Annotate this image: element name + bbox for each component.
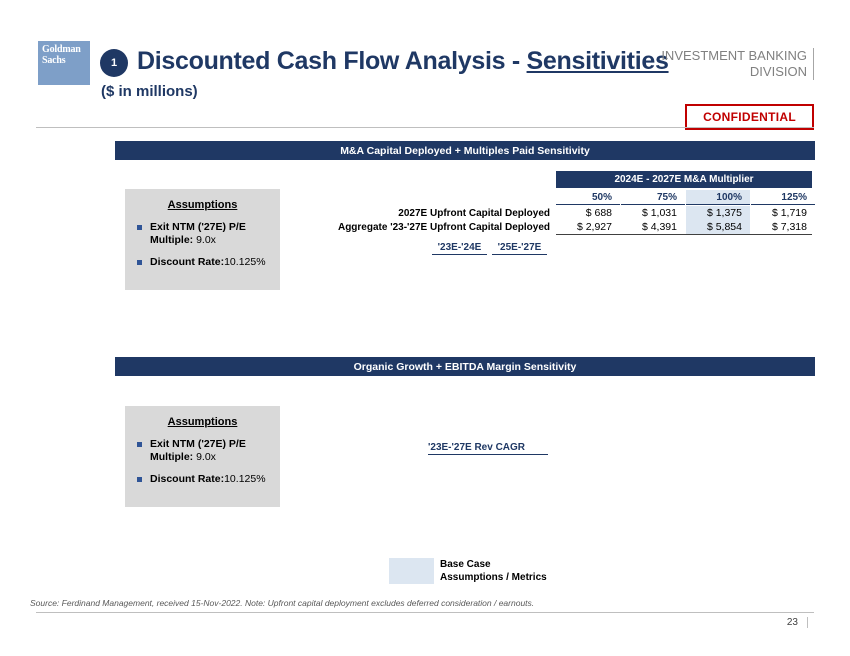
ma-summary-row-label: 2027E Upfront Capital Deployed [300, 206, 550, 220]
assumption-s2-item-value: 10.125% [224, 473, 265, 485]
ma-summary-cell: $ 688 [556, 206, 620, 220]
assumption-s2-item-label: Discount Rate: [150, 473, 224, 485]
page-title: Discounted Cash Flow Analysis - Sensitiv… [137, 47, 669, 76]
ma-matrix-header: 2024E - 2027E M&A Multiplier [556, 171, 812, 188]
ma-column-header: 100% [686, 190, 750, 205]
og-axis-header: '23E-'27E Rev CAGR [428, 440, 548, 455]
ma-summary-cell: $ 2,927 [556, 220, 620, 234]
assumptions-box-section1: AssumptionsExit NTM ('27E) P/E Multiple:… [125, 189, 280, 290]
section-header-ma-capital: M&A Capital Deployed + Multiples Paid Se… [115, 141, 815, 160]
page-number: 23 [787, 617, 808, 628]
division-line-1: INVESTMENT BANKING [661, 48, 807, 64]
ma-summary-cell: $ 5,854 [686, 220, 750, 234]
section-header-organic-growth: Organic Growth + EBITDA Margin Sensitivi… [115, 357, 815, 376]
header-divider [36, 127, 814, 128]
legend-swatch-base-case [389, 558, 434, 584]
division-label: INVESTMENT BANKING DIVISION [661, 48, 814, 80]
footer-divider [36, 612, 814, 613]
ma-column-header: 50% [556, 190, 620, 205]
assumption-s1-heading: Assumptions [137, 199, 268, 211]
assumption-s2-heading: Assumptions [137, 416, 268, 428]
assumption-s1-item-label: Discount Rate: [150, 256, 224, 268]
page-title-emphasis: Sensitivities [527, 47, 669, 75]
assumption-s1-item: Exit NTM ('27E) P/E Multiple: 9.0x [137, 221, 268, 247]
ma-axis-header: '25E-'27E [492, 240, 547, 255]
assumption-s1-item-value: 10.125% [224, 256, 265, 268]
legend-line-2: Assumptions / Metrics [440, 571, 547, 584]
page-title-main: Discounted Cash Flow Analysis - [137, 47, 527, 75]
legend-line-1: Base Case [440, 558, 547, 571]
ma-summary-cell: $ 7,318 [751, 220, 815, 234]
ma-column-header: 125% [751, 190, 815, 205]
ma-summary-row-label: Aggregate '23-'27E Upfront Capital Deplo… [300, 220, 550, 234]
ma-summary-cell: $ 1,719 [751, 206, 815, 220]
ma-summary-underline [556, 234, 812, 235]
legend-label-base-case: Base Case Assumptions / Metrics [440, 558, 547, 584]
division-line-2: DIVISION [661, 64, 807, 80]
ma-column-header: 75% [621, 190, 685, 205]
assumption-s1-item-value: 9.0x [193, 234, 216, 246]
page-subtitle: ($ in millions) [101, 83, 198, 100]
assumption-s2-item-value: 9.0x [193, 451, 216, 463]
assumption-s2-item: Discount Rate:10.125% [137, 473, 268, 486]
slide-number-badge: 1 [100, 49, 128, 77]
ma-summary-cell: $ 1,375 [686, 206, 750, 220]
assumptions-box-section2: AssumptionsExit NTM ('27E) P/E Multiple:… [125, 406, 280, 507]
ma-axis-header: '23E-'24E [432, 240, 487, 255]
ma-summary-cell: $ 4,391 [621, 220, 685, 234]
assumption-s2-item: Exit NTM ('27E) P/E Multiple: 9.0x [137, 438, 268, 464]
slide-header: GoldmanSachs 1 Discounted Cash Flow Anal… [0, 0, 850, 128]
assumption-s1-item: Discount Rate:10.125% [137, 256, 268, 269]
goldman-sachs-logo: GoldmanSachs [38, 41, 90, 85]
source-note: Source: Ferdinand Management, received 1… [30, 598, 534, 608]
ma-summary-cell: $ 1,031 [621, 206, 685, 220]
